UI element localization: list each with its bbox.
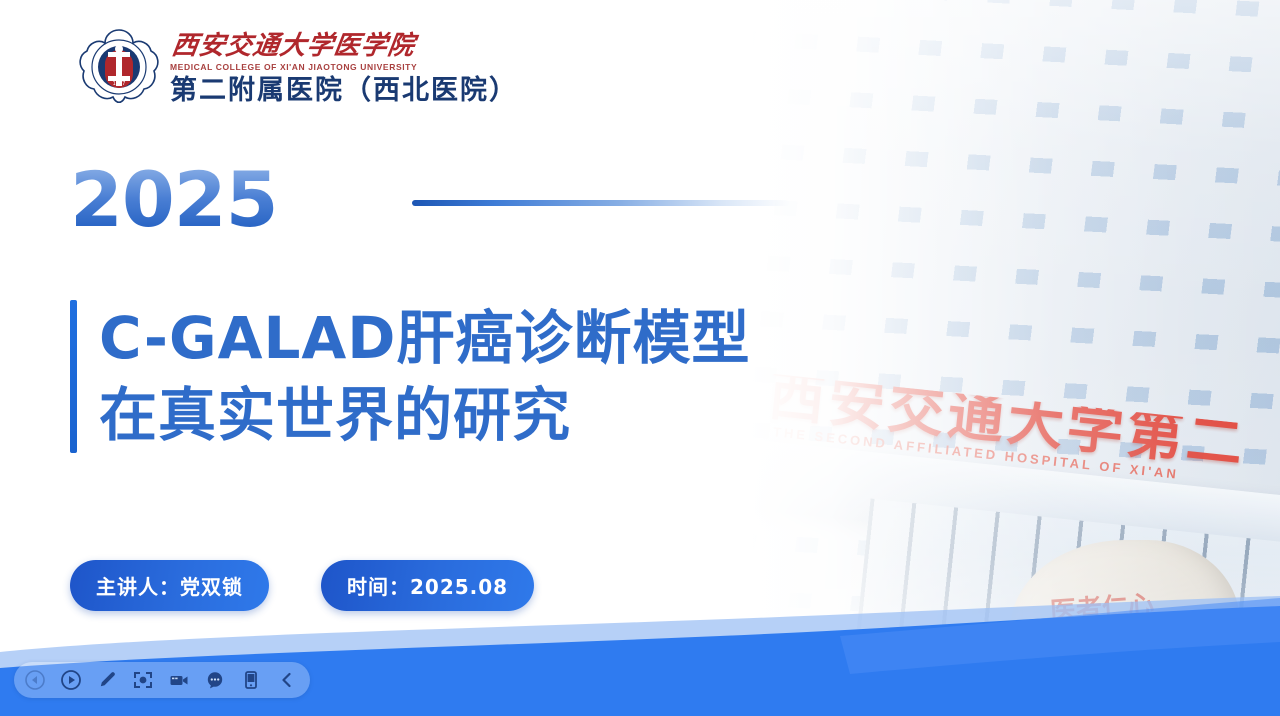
university-crest-icon: 1937 [78, 26, 160, 108]
collapse-left-icon[interactable] [276, 669, 298, 691]
bottom-wave-decoration [0, 596, 1280, 716]
college-name-cn: 西安交通大学医学院 [170, 33, 417, 59]
previous-icon[interactable] [24, 669, 46, 691]
year-label: 2025 [70, 162, 278, 238]
play-icon[interactable] [60, 669, 82, 691]
college-name-en: MEDICAL COLLEGE OF XI'AN JIAOTONG UNIVER… [170, 62, 518, 72]
player-toolbar[interactable] [14, 662, 310, 698]
title-line-1: C-GALAD肝癌诊断模型 [99, 300, 750, 377]
title-accent-bar [70, 300, 77, 453]
slide-title: C-GALAD肝癌诊断模型 在真实世界的研究 [70, 300, 750, 453]
hospital-name-cn: 第二附属医院（西北医院） [170, 77, 518, 105]
header-divider-rule [412, 200, 790, 206]
comment-dots-icon[interactable] [204, 669, 226, 691]
presentation-slide: 西安交通大学第二 THE SECOND AFFILIATED HOSPITAL … [0, 0, 1280, 716]
speaker-pill: 主讲人：党双锁 [70, 560, 269, 611]
date-pill: 时间：2025.08 [321, 560, 534, 611]
meta-pill-group: 主讲人：党双锁 时间：2025.08 [70, 560, 534, 611]
mobile-device-icon[interactable] [240, 669, 262, 691]
title-line-2: 在真实世界的研究 [99, 377, 750, 454]
institution-logo: 1937 西安交通大学医学院 MEDICAL COLLEGE OF XI'AN … [78, 26, 518, 108]
pencil-icon[interactable] [96, 669, 118, 691]
svg-text:1937: 1937 [113, 81, 126, 87]
scan-icon[interactable] [132, 669, 154, 691]
video-camera-icon[interactable] [168, 669, 190, 691]
